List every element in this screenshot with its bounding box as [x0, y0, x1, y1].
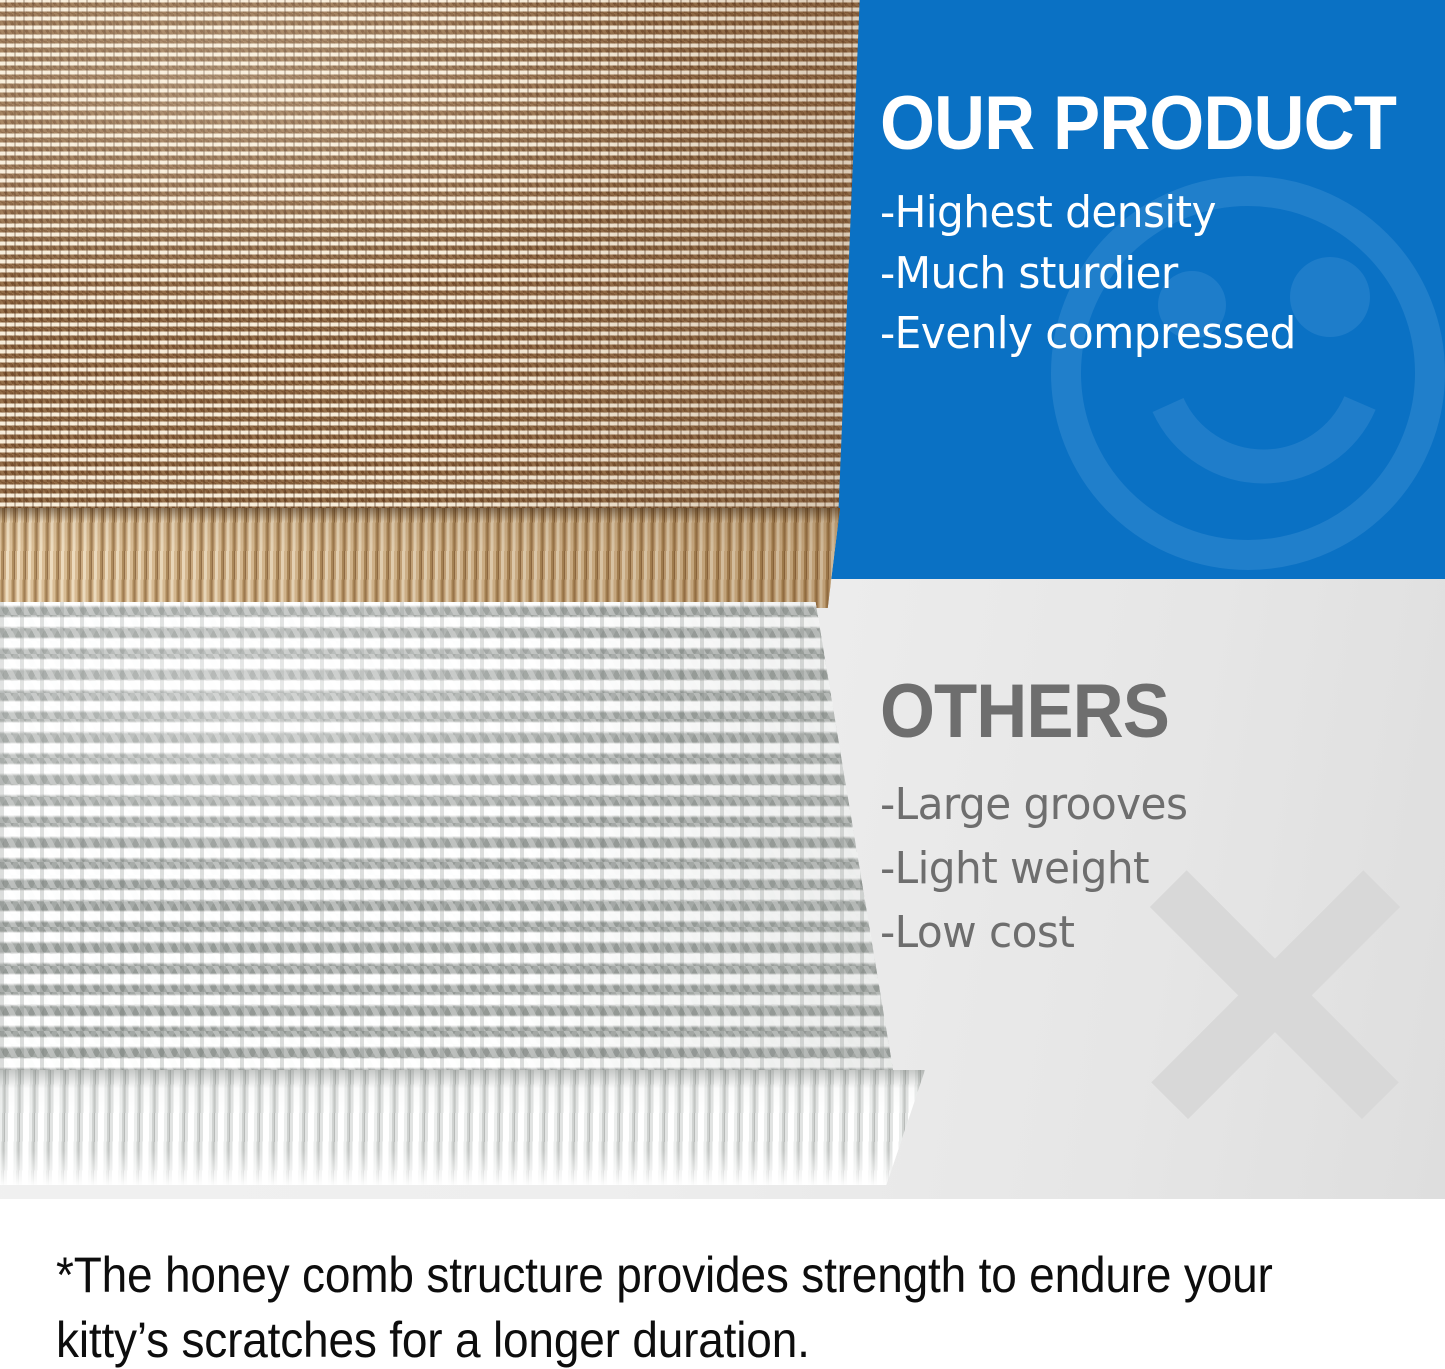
others-heading: OTHERS	[880, 676, 1401, 749]
list-item: -Light weight	[880, 837, 1418, 901]
others-bullet-list: -Large grooves -Light weight -Low cost	[880, 773, 1440, 964]
list-item: -Much sturdier	[880, 244, 1418, 305]
our-product-heading: OUR PRODUCT	[880, 88, 1401, 161]
others-text-block: OTHERS -Large grooves -Light weight -Low…	[880, 676, 1440, 964]
list-item: -Evenly compressed	[880, 304, 1418, 365]
footnote-text: *The honey comb structure provides stren…	[56, 1243, 1307, 1369]
list-item: -Low cost	[880, 901, 1418, 965]
our-product-bullet-list: -Highest density -Much sturdier -Evenly …	[880, 183, 1440, 365]
list-item: -Large grooves	[880, 773, 1418, 837]
list-item: -Highest density	[880, 183, 1418, 244]
our-product-text-block: OUR PRODUCT -Highest density -Much sturd…	[880, 88, 1440, 365]
infographic-canvas: OUR PRODUCT -Highest density -Much sturd…	[0, 0, 1445, 1369]
